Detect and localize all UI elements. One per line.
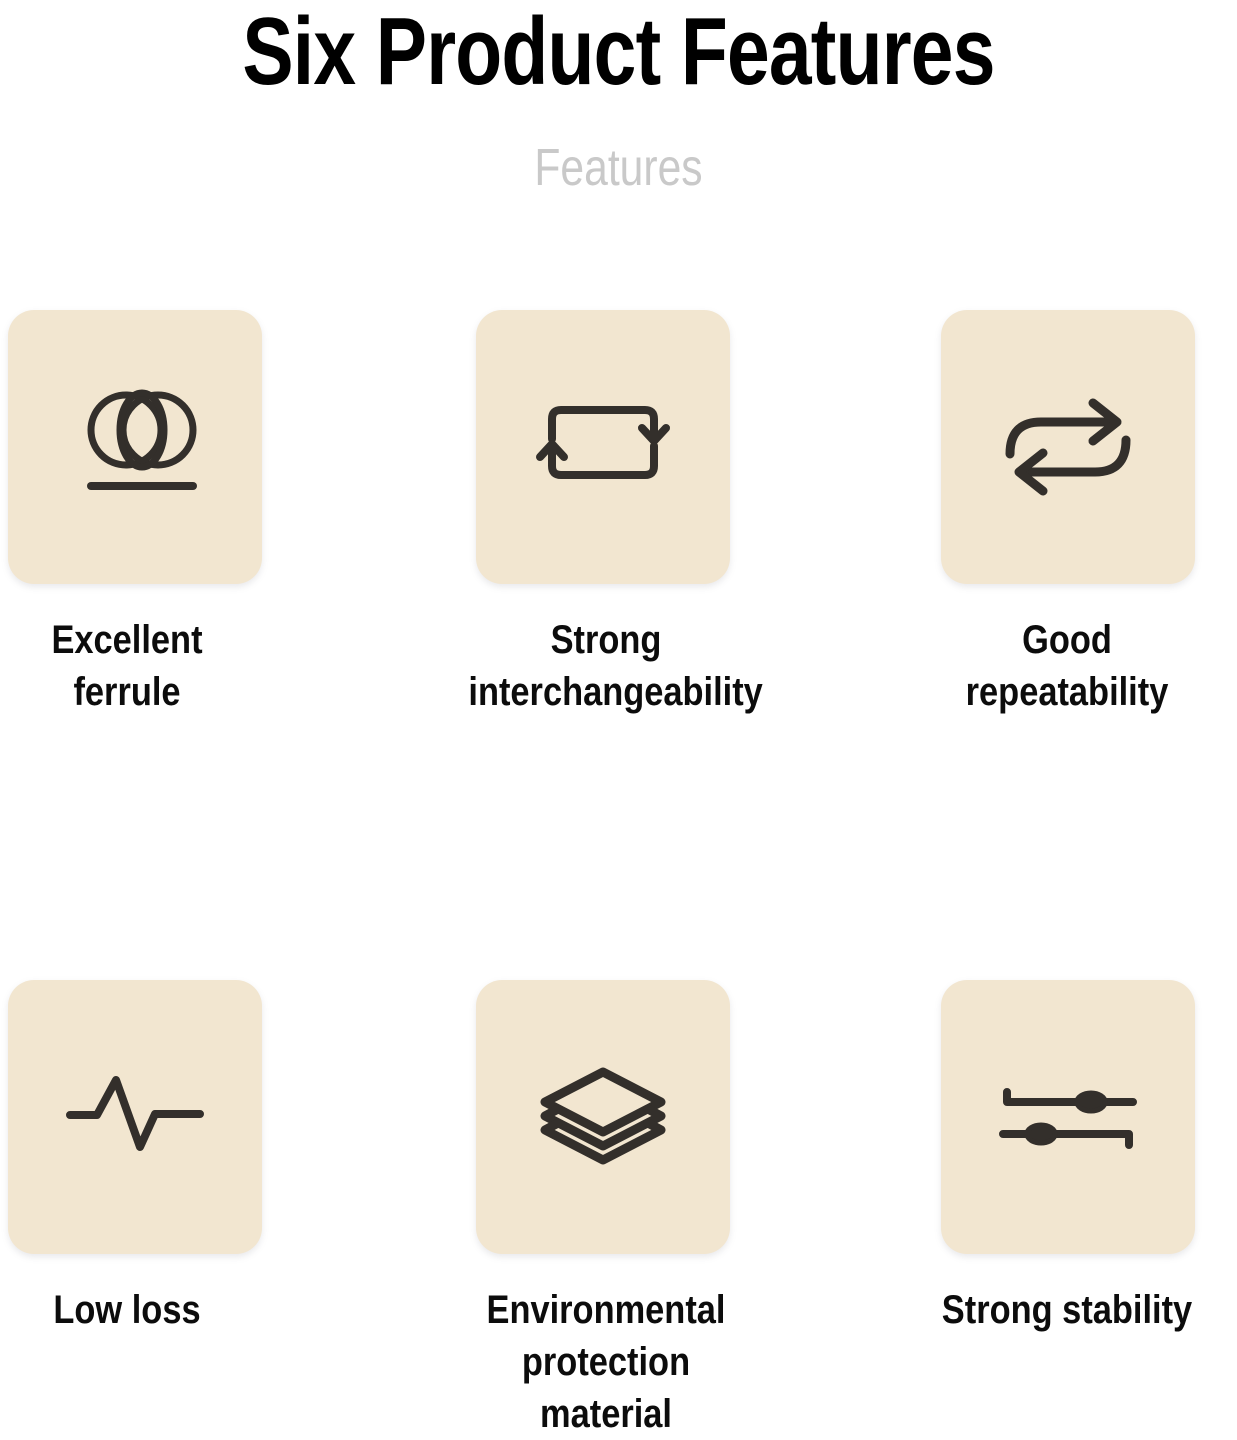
- stacked-layers-icon: [528, 1052, 678, 1182]
- feature-item-excellent-ferrule[interactable]: Excellent ferrule: [0, 310, 414, 718]
- feature-icon-card: [941, 980, 1195, 1254]
- feature-grid: Excellent ferrule Strong interchangeabil…: [0, 310, 1237, 1440]
- feature-icon-card: [476, 980, 730, 1254]
- feature-icon-card: [476, 310, 730, 584]
- page-title: Six Product Features: [124, 4, 1114, 100]
- feature-label: Strong stability: [921, 1254, 1213, 1336]
- feature-item-good-repeatability[interactable]: Good repeatability: [811, 310, 1237, 718]
- feature-icon-card: [8, 980, 262, 1254]
- page-header: Six Product Features Features: [0, 0, 1237, 194]
- feature-label: Strong interchangeability: [468, 584, 743, 718]
- repeat-swap-arrows-icon: [993, 382, 1143, 512]
- feature-item-strong-stability[interactable]: Strong stability: [811, 980, 1237, 1440]
- feature-label: Low loss: [18, 1254, 236, 1336]
- feature-item-low-loss[interactable]: Low loss: [0, 980, 414, 1440]
- pulse-waveform-icon: [60, 1052, 210, 1182]
- feature-icon-card: [8, 310, 262, 584]
- feature-label: Environmental protection material: [468, 1254, 743, 1440]
- feature-item-environmental-protection-material[interactable]: Environmental protection material: [406, 980, 882, 1440]
- feature-item-strong-interchangeability[interactable]: Strong interchangeability: [406, 310, 882, 718]
- page-subtitle: Features: [111, 100, 1125, 194]
- feature-label: Excellent ferrule: [18, 584, 236, 718]
- feature-icon-card: [941, 310, 1195, 584]
- feature-label: Good repeatability: [921, 584, 1213, 718]
- ferrule-rings-on-base-icon: [60, 382, 210, 512]
- slider-controls-icon: [993, 1052, 1143, 1182]
- feature-showcase-page: Six Product Features Features Excellent …: [0, 0, 1237, 1284]
- rectangular-loop-arrows-icon: [528, 382, 678, 512]
